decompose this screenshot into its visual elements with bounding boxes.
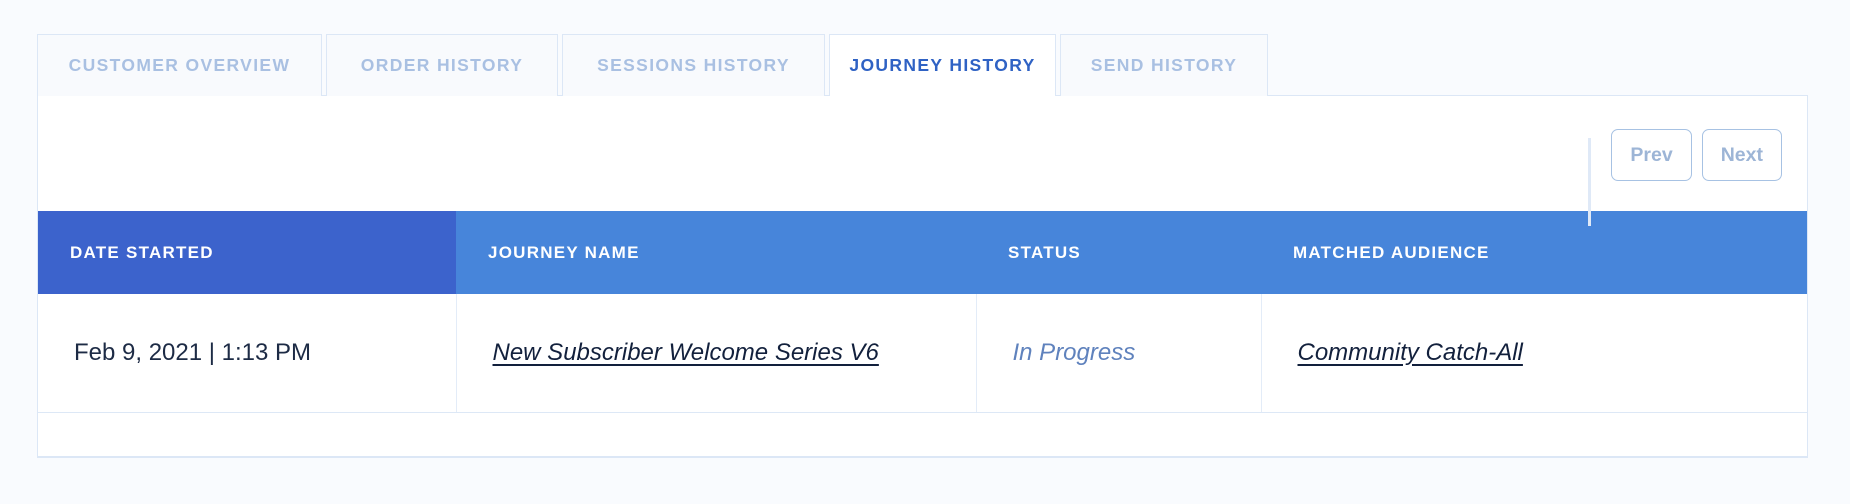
cell-date-started: Feb 9, 2021 | 1:13 PM [38,294,456,412]
toolbar-divider [1588,138,1591,226]
panel-bottom-border [38,456,1807,457]
table-header: Date Started Journey Name Status Matched… [38,211,1807,294]
tab-order-history[interactable]: Order History [326,34,558,96]
journey-history-table: Date Started Journey Name Status Matched… [38,211,1807,413]
tab-send-history[interactable]: Send History [1060,34,1268,96]
tab-label: Journey History [849,55,1035,76]
status-value: In Progress [1013,339,1136,366]
column-header-journey-name[interactable]: Journey Name [456,211,976,294]
journey-name-link[interactable]: New Subscriber Welcome Series V6 [493,339,879,366]
column-header-status[interactable]: Status [976,211,1261,294]
tab-bar: Customer Overview Order History Sessions… [37,34,1272,96]
next-page-button[interactable]: Next [1702,129,1782,181]
prev-page-label: Prev [1630,144,1672,167]
tab-sessions-history[interactable]: Sessions History [562,34,825,96]
table-toolbar: Prev Next [38,96,1807,211]
table-header-row: Date Started Journey Name Status Matched… [38,211,1807,294]
cell-matched-audience: Community Catch-All [1261,294,1807,412]
tab-label: Send History [1091,55,1238,76]
cell-status: In Progress [976,294,1261,412]
matched-audience-link[interactable]: Community Catch-All [1298,339,1523,366]
journey-history-screen: Customer Overview Order History Sessions… [0,0,1850,504]
tab-label: Sessions History [597,55,790,76]
tab-journey-history[interactable]: Journey History [829,34,1056,96]
tab-label: Order History [361,55,523,76]
journey-history-panel: Prev Next Date Started Journey Name Stat… [37,95,1808,458]
table-row: Feb 9, 2021 | 1:13 PM New Subscriber Wel… [38,294,1807,412]
column-header-date-started[interactable]: Date Started [38,211,456,294]
tab-customer-overview[interactable]: Customer Overview [37,34,322,96]
tab-label: Customer Overview [69,55,291,76]
next-page-label: Next [1721,144,1763,167]
cell-journey-name: New Subscriber Welcome Series V6 [456,294,976,412]
prev-page-button[interactable]: Prev [1611,129,1691,181]
date-started-value: Feb 9, 2021 | 1:13 PM [74,339,311,366]
table-body: Feb 9, 2021 | 1:13 PM New Subscriber Wel… [38,294,1807,412]
column-header-matched-audience[interactable]: Matched Audience [1261,211,1807,294]
pagination-controls: Prev Next [1611,129,1782,181]
